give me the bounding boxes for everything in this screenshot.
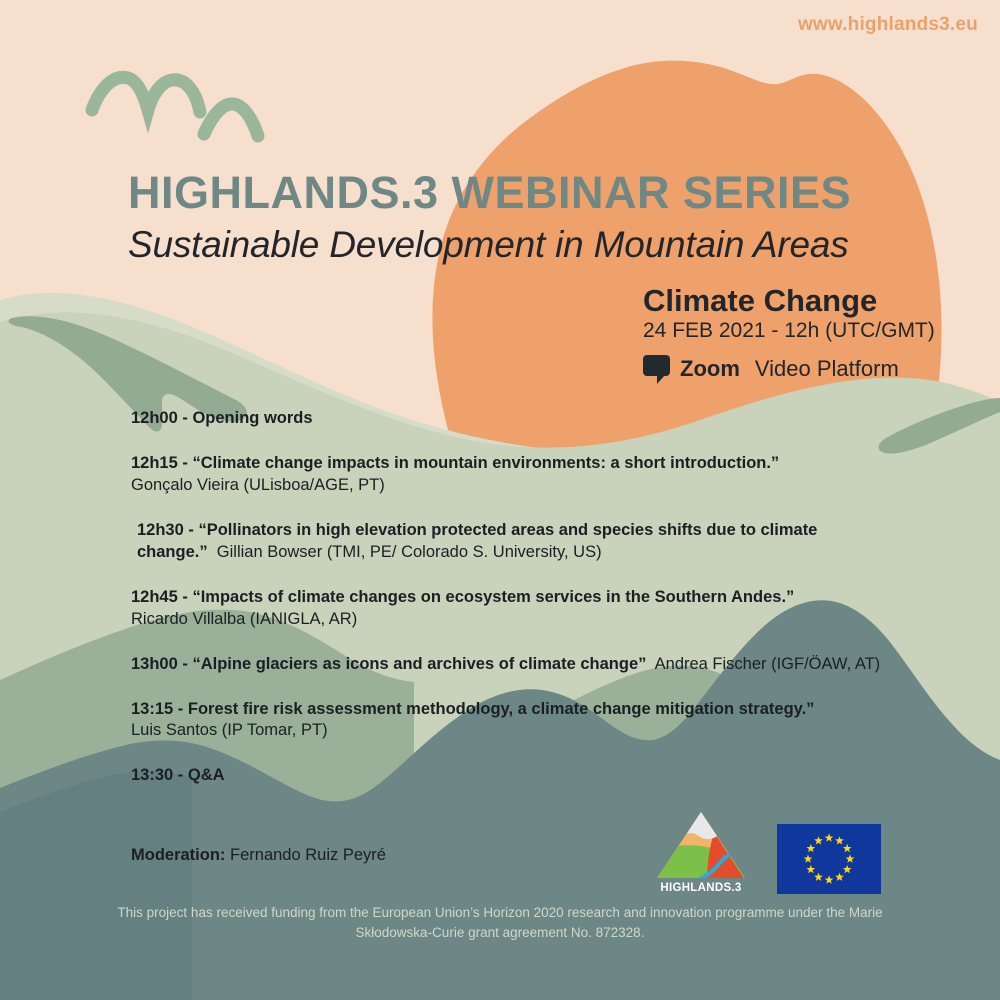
programme-entry-speaker: Gonçalo Vieira (ULisboa/AGE, PT) [131,475,891,497]
highlands-wordmark: HIGHLANDS.3 [655,882,747,894]
programme-entry-speaker: Andrea Fischer (IGF/ÖAW, AT) [646,655,880,673]
zoom-speech-bubble-icon [643,355,671,383]
programme-entry: 12h15 - “Climate change impacts in mount… [131,453,891,497]
moderation-name: Fernando Ruiz Peyré [230,846,386,864]
event-details-block: Climate Change 24 FEB 2021 - 12h (UTC/GM… [643,285,983,383]
programme-entry: 12h00 - Opening words [131,408,891,430]
programme-entry-title: 12h15 - “Climate change impacts in mount… [131,454,779,472]
event-platform-row: Zoom Video Platform [643,355,983,383]
website-url[interactable]: www.highlands3.eu [798,14,978,36]
programme-entry-speaker: Ricardo Villalba (IANIGLA, AR) [131,609,891,631]
programme-entry-title: 12h00 - Opening words [131,409,313,427]
headline-block: HIGHLANDS.3 WEBINAR SERIES Sustainable D… [128,170,918,266]
zoom-brand-label: Zoom [680,356,740,382]
platform-type-label: Video Platform [755,356,899,382]
programme-entry-line: 12h45 - “Impacts of climate changes on e… [131,587,891,609]
programme-entry: 13:30 - Q&A [131,765,891,787]
programme-entry-title: 12h45 - “Impacts of climate changes on e… [131,588,794,606]
foreground-shadow-left [0,771,192,1000]
funding-acknowledgement: This project has received funding from t… [110,903,890,942]
page-subtitle: Sustainable Development in Mountain Area… [128,224,918,266]
page-title: HIGHLANDS.3 WEBINAR SERIES [128,170,918,215]
mountain-triangle-logo: HIGHLANDS.3 [655,810,747,894]
programme-entry-line: 13:15 - Forest fire risk assessment meth… [131,699,891,721]
european-union-flag [777,824,881,894]
programme-entry-speaker: Luis Santos (IP Tomar, PT) [131,720,891,742]
programme-entry: 13:15 - Forest fire risk assessment meth… [131,699,891,743]
programme-entry-title: 13:30 - Q&A [131,766,225,784]
programme-entry: 12h30 - “Pollinators in high elevation p… [131,520,891,564]
eu-flag-graphic [777,824,881,894]
programme-entry-line: 12h15 - “Climate change impacts in mount… [131,453,891,475]
webinar-poster: www.highlands3.eu HIGHLANDS.3 WEBINAR SE… [0,0,1000,1000]
mountain-logo-graphic [655,810,747,880]
logo-row: HIGHLANDS.3 [655,810,881,894]
programme-entry-line: 12h30 - “Pollinators in high elevation p… [137,520,891,564]
programme-entry: 12h45 - “Impacts of climate changes on e… [131,587,891,631]
programme-entry-title: 13h00 - “Alpine glaciers as icons and ar… [131,655,646,673]
programme-schedule: 12h00 - Opening words12h15 - “Climate ch… [131,408,891,787]
programme-entry-title: 13:15 - Forest fire risk assessment meth… [131,700,814,718]
moderation-line: Moderation: Fernando Ruiz Peyré [131,846,386,865]
event-datetime: 24 FEB 2021 - 12h (UTC/GMT) [643,319,983,343]
programme-entry-line: 13:30 - Q&A [131,765,891,787]
moderation-label: Moderation: [131,846,225,864]
programme-entry-line: 13h00 - “Alpine glaciers as icons and ar… [131,654,891,676]
programme-entry-speaker: Gillian Bowser (TMI, PE/ Colorado S. Uni… [208,543,602,561]
event-topic: Climate Change [643,285,983,318]
programme-entry-line: 12h00 - Opening words [131,408,891,430]
programme-entry: 13h00 - “Alpine glaciers as icons and ar… [131,654,891,676]
